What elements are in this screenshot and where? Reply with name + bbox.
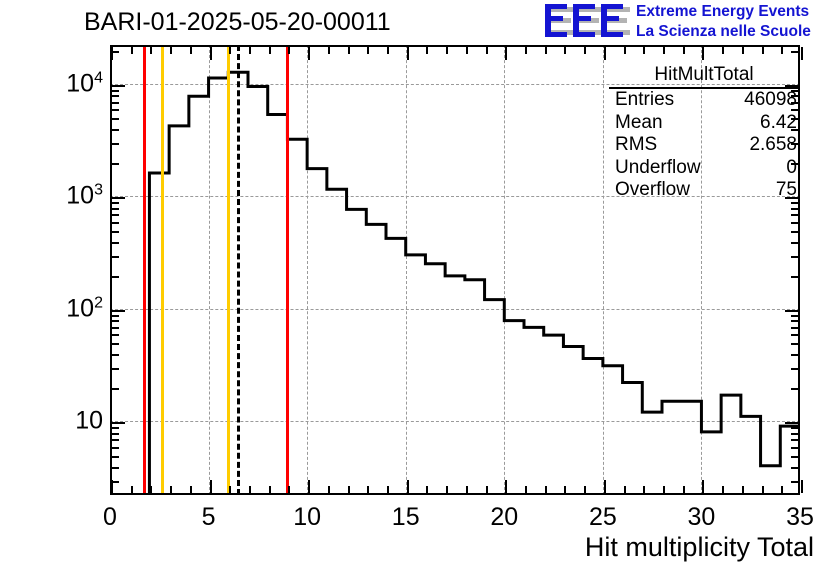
x-tick-top bbox=[131, 47, 133, 54]
root-canvas: BARI-01-2025-05-20-00011 Extreme Energy … bbox=[0, 0, 836, 572]
x-tick bbox=[702, 480, 704, 493]
x-tick bbox=[387, 486, 389, 493]
stats-row-key: RMS bbox=[615, 134, 657, 157]
y-tick bbox=[112, 439, 119, 441]
eee-logo: Extreme Energy Events La Scienza nelle S… bbox=[544, 2, 834, 44]
y-tick bbox=[112, 95, 119, 97]
x-tick-label: 5 bbox=[202, 503, 216, 532]
y-tick-right bbox=[791, 256, 798, 258]
y-tick bbox=[112, 276, 119, 278]
y-tick bbox=[112, 388, 119, 390]
y-tick bbox=[112, 422, 125, 424]
stats-row-key: Underflow bbox=[615, 157, 701, 180]
x-tick bbox=[545, 486, 547, 493]
y-tick bbox=[112, 481, 119, 483]
x-tick bbox=[584, 486, 586, 493]
x-tick bbox=[367, 486, 369, 493]
y-tick-right bbox=[785, 422, 798, 424]
y-tick-right bbox=[791, 208, 798, 210]
x-tick-top bbox=[505, 47, 507, 60]
x-tick-top bbox=[702, 47, 704, 60]
x-tick bbox=[525, 486, 527, 493]
y-tick-right bbox=[791, 242, 798, 244]
x-tick-top bbox=[584, 47, 586, 54]
x-tick bbox=[683, 486, 685, 493]
x-tick bbox=[308, 480, 310, 493]
y-tick-right bbox=[791, 447, 798, 449]
y-tick-right bbox=[791, 320, 798, 322]
x-tick bbox=[249, 486, 251, 493]
x-tick bbox=[643, 486, 645, 493]
x-tick-top bbox=[190, 47, 192, 54]
x-tick-top bbox=[801, 47, 803, 60]
stats-row-value: 46098 bbox=[744, 89, 797, 112]
x-tick bbox=[407, 480, 409, 493]
x-tick-top bbox=[564, 47, 566, 54]
stats-row-key: Entries bbox=[615, 89, 674, 112]
y-tick bbox=[112, 163, 119, 165]
x-tick bbox=[663, 486, 665, 493]
x-tick bbox=[190, 486, 192, 493]
eee-logo-line1: Extreme Energy Events bbox=[636, 2, 811, 22]
y-tick bbox=[112, 231, 119, 233]
y-tick-right bbox=[791, 327, 798, 329]
stats-box-title: HitMultTotal bbox=[609, 64, 799, 89]
y-tick bbox=[112, 242, 119, 244]
x-tick bbox=[131, 486, 133, 493]
stats-row-key: Mean bbox=[615, 112, 663, 135]
y-tick-right bbox=[791, 433, 798, 435]
stats-row: RMS2.658 bbox=[609, 134, 799, 157]
y-tick bbox=[112, 109, 119, 111]
y-tick bbox=[112, 90, 119, 92]
x-tick-label: 30 bbox=[688, 503, 716, 532]
y-tick-right bbox=[791, 354, 798, 356]
x-tick-label: 25 bbox=[589, 503, 617, 532]
y-tick bbox=[112, 456, 119, 458]
x-tick-top bbox=[781, 47, 783, 54]
x-tick-top bbox=[210, 47, 212, 60]
x-tick bbox=[505, 480, 507, 493]
x-tick-top bbox=[545, 47, 547, 54]
x-tick bbox=[781, 486, 783, 493]
x-tick bbox=[801, 480, 803, 493]
y-tick bbox=[112, 327, 119, 329]
x-tick-top bbox=[643, 47, 645, 54]
y-tick bbox=[112, 102, 119, 104]
x-tick bbox=[288, 486, 290, 493]
x-tick bbox=[564, 486, 566, 493]
x-tick bbox=[170, 486, 172, 493]
y-tick bbox=[112, 256, 119, 258]
x-tick bbox=[466, 486, 468, 493]
stats-box-rows: Entries46098Mean6.42RMS2.658Underflow0Ov… bbox=[609, 89, 799, 202]
y-tick-right bbox=[791, 388, 798, 390]
x-tick bbox=[486, 486, 488, 493]
x-tick-label: 10 bbox=[293, 503, 321, 532]
y-tick bbox=[112, 368, 119, 370]
x-tick-top bbox=[762, 47, 764, 54]
x-tick-top bbox=[348, 47, 350, 54]
y-tick-right bbox=[791, 427, 798, 429]
x-tick bbox=[604, 480, 606, 493]
y-tick-right bbox=[791, 222, 798, 224]
x-tick bbox=[229, 486, 231, 493]
x-tick-top bbox=[683, 47, 685, 54]
eee-logo-text: Extreme Energy Events La Scienza nelle S… bbox=[636, 2, 811, 42]
x-tick bbox=[762, 486, 764, 493]
x-tick bbox=[624, 486, 626, 493]
y-tick-label: 10 bbox=[75, 407, 103, 436]
y-tick-right bbox=[791, 276, 798, 278]
stats-row: Overflow75 bbox=[609, 179, 799, 202]
y-tick-right bbox=[791, 368, 798, 370]
x-tick bbox=[210, 480, 212, 493]
x-tick-top bbox=[367, 47, 369, 54]
y-tick-right bbox=[791, 231, 798, 233]
y-tick-right bbox=[791, 343, 798, 345]
y-tick bbox=[112, 433, 119, 435]
stats-row-value: 6.42 bbox=[760, 112, 797, 135]
y-tick bbox=[112, 334, 119, 336]
stats-row: Entries46098 bbox=[609, 89, 799, 112]
y-tick bbox=[112, 315, 119, 317]
x-tick-top bbox=[111, 47, 113, 60]
stats-row-key: Overflow bbox=[615, 179, 690, 202]
y-tick-right bbox=[791, 467, 798, 469]
stats-box: HitMultTotal Entries46098Mean6.42RMS2.65… bbox=[609, 64, 799, 202]
x-tick-top bbox=[407, 47, 409, 60]
x-tick-top bbox=[288, 47, 290, 54]
y-tick bbox=[112, 222, 119, 224]
x-tick bbox=[446, 486, 448, 493]
x-tick-label: 15 bbox=[392, 503, 420, 532]
x-tick bbox=[269, 486, 271, 493]
x-tick-top bbox=[170, 47, 172, 54]
x-tick-top bbox=[624, 47, 626, 54]
stats-row: Underflow0 bbox=[609, 157, 799, 180]
y-tick-right bbox=[791, 481, 798, 483]
y-tick-right bbox=[791, 214, 798, 216]
y-tick-label: 102 bbox=[66, 294, 103, 323]
y-tick bbox=[112, 118, 119, 120]
x-tick-top bbox=[446, 47, 448, 54]
eee-logo-mark bbox=[544, 4, 630, 40]
y-tick bbox=[112, 447, 119, 449]
x-tick bbox=[328, 486, 330, 493]
y-tick-right bbox=[791, 315, 798, 317]
x-tick-top bbox=[604, 47, 606, 60]
y-tick bbox=[112, 343, 119, 345]
x-tick-top bbox=[308, 47, 310, 60]
y-tick bbox=[112, 214, 119, 216]
page-title: BARI-01-2025-05-20-00011 bbox=[84, 8, 391, 37]
y-tick bbox=[112, 208, 119, 210]
y-tick bbox=[112, 129, 119, 131]
y-tick bbox=[112, 427, 119, 429]
x-tick-top bbox=[722, 47, 724, 54]
x-tick-top bbox=[249, 47, 251, 54]
x-tick-top bbox=[328, 47, 330, 54]
y-tick-label: 103 bbox=[66, 181, 103, 210]
x-tick-top bbox=[150, 47, 152, 54]
x-tick bbox=[348, 486, 350, 493]
x-tick-top bbox=[426, 47, 428, 54]
x-tick-top bbox=[486, 47, 488, 54]
x-tick-label: 0 bbox=[103, 503, 117, 532]
x-tick-top bbox=[742, 47, 744, 54]
y-tick bbox=[112, 143, 119, 145]
y-tick bbox=[112, 202, 119, 204]
y-tick-right bbox=[785, 310, 798, 312]
x-tick bbox=[742, 486, 744, 493]
y-tick-right bbox=[791, 456, 798, 458]
x-tick bbox=[150, 486, 152, 493]
stats-row-value: 2.658 bbox=[749, 134, 797, 157]
x-tick-top bbox=[466, 47, 468, 54]
y-tick-right bbox=[791, 439, 798, 441]
x-tick-top bbox=[663, 47, 665, 54]
x-tick bbox=[722, 486, 724, 493]
y-tick bbox=[112, 85, 125, 87]
x-tick-top bbox=[269, 47, 271, 54]
y-tick-right bbox=[791, 202, 798, 204]
x-tick-top bbox=[229, 47, 231, 54]
stats-row: Mean6.42 bbox=[609, 112, 799, 135]
stats-row-value: 0 bbox=[786, 157, 797, 180]
x-tick-top bbox=[387, 47, 389, 54]
x-tick bbox=[426, 486, 428, 493]
y-tick bbox=[112, 354, 119, 356]
y-tick bbox=[112, 310, 125, 312]
y-tick bbox=[112, 467, 119, 469]
y-tick-right bbox=[791, 51, 798, 53]
x-tick-label: 20 bbox=[490, 503, 518, 532]
y-tick bbox=[112, 320, 119, 322]
x-axis-title: Hit multiplicity Total bbox=[585, 532, 814, 563]
y-tick-label: 104 bbox=[66, 69, 103, 98]
y-tick bbox=[112, 51, 119, 53]
x-tick-top bbox=[525, 47, 527, 54]
eee-logo-line2: La Scienza nelle Scuole bbox=[636, 22, 811, 42]
x-tick-label: 35 bbox=[786, 503, 814, 532]
y-tick-right bbox=[791, 334, 798, 336]
y-tick bbox=[112, 197, 125, 199]
stats-row-value: 75 bbox=[776, 179, 797, 202]
